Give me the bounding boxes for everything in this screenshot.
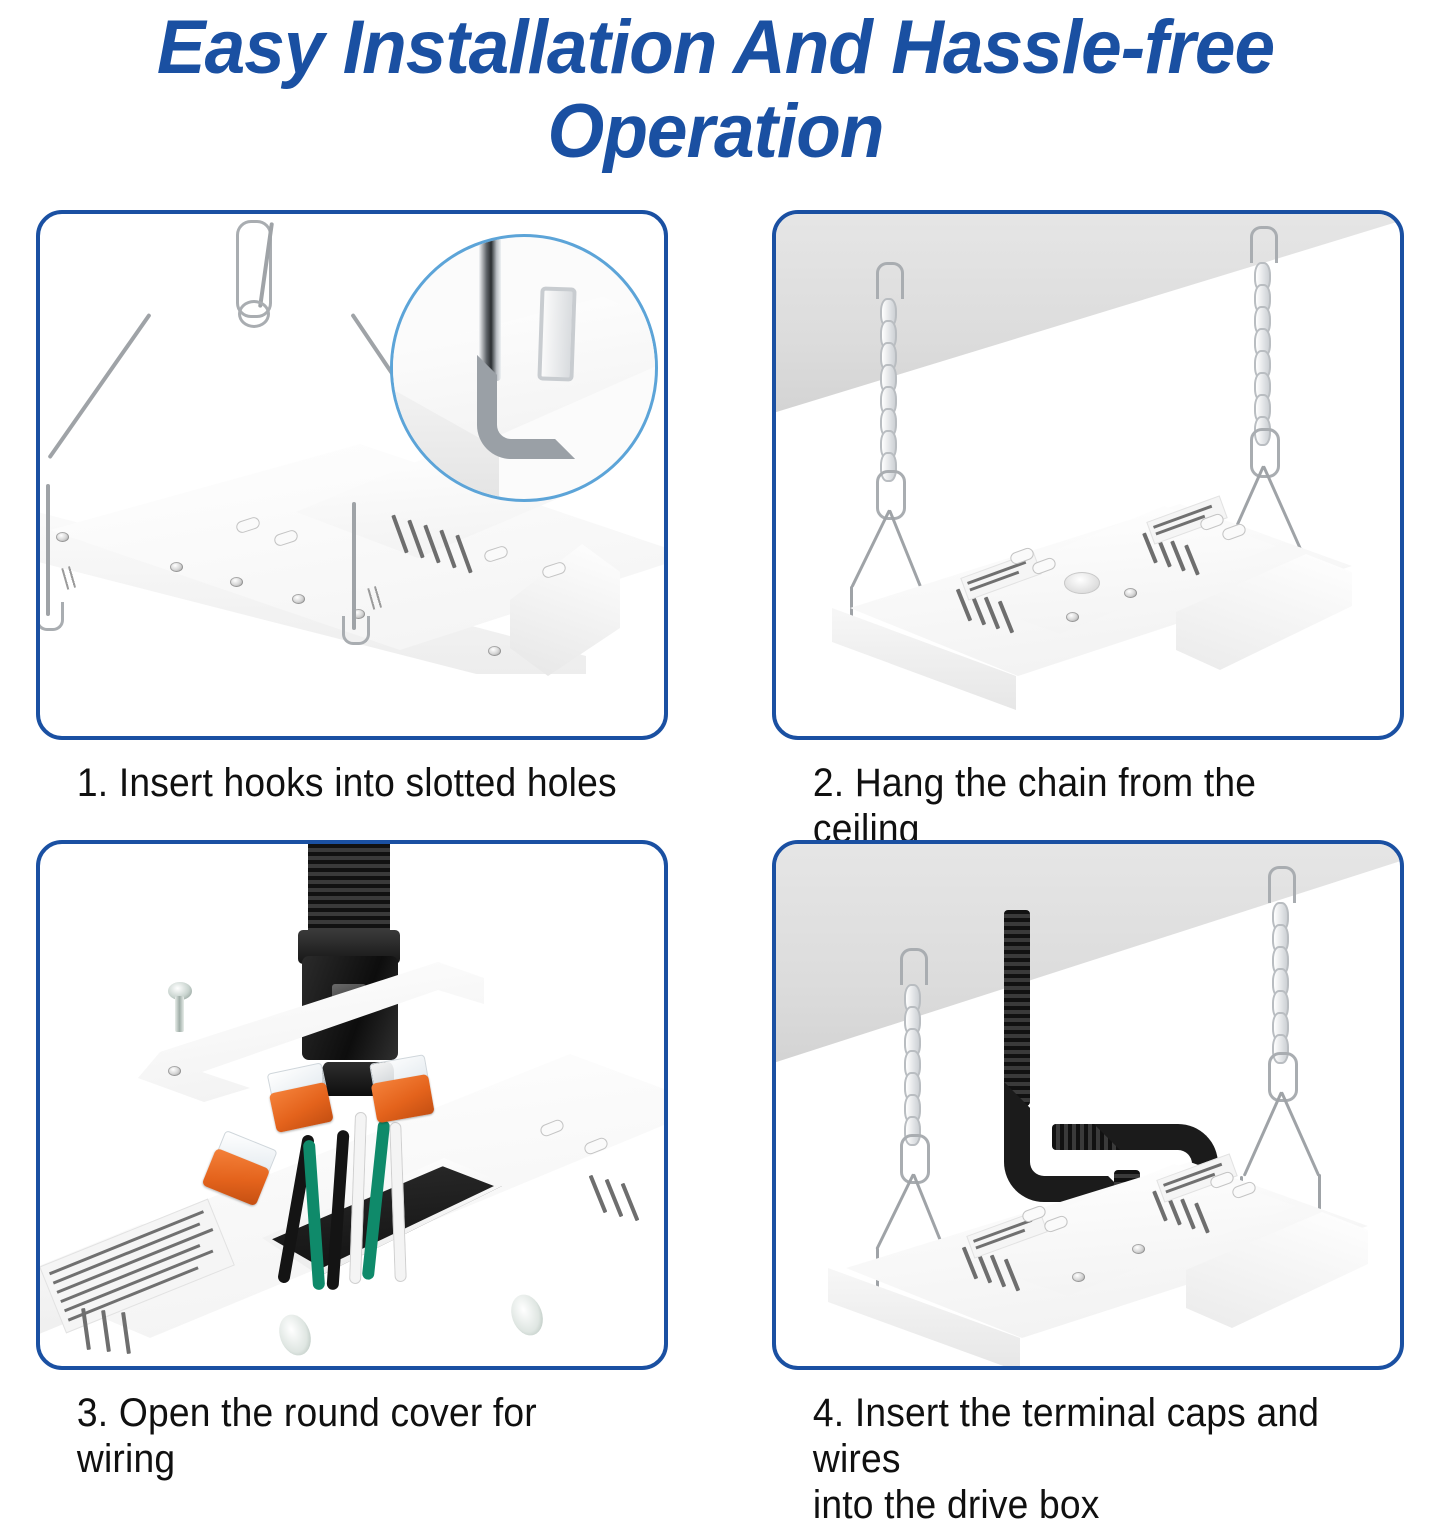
ceiling-plane bbox=[772, 840, 1404, 1078]
infographic-page: Easy Installation And Hassle-free Operat… bbox=[0, 0, 1431, 1500]
step-4-caption: 4. Insert the terminal caps and wires in… bbox=[772, 1390, 1365, 1528]
hanger-arm-left bbox=[1243, 1091, 1283, 1176]
hanger-leg-right bbox=[352, 502, 356, 630]
hanger-leg-left bbox=[46, 484, 50, 616]
step-3: 3. Open the round cover for wiring bbox=[36, 840, 674, 1482]
screw-head bbox=[170, 562, 183, 572]
step-1-image-panel bbox=[36, 210, 668, 740]
vent-slot bbox=[621, 1183, 640, 1222]
step-3-caption: 3. Open the round cover for wiring bbox=[36, 1390, 629, 1482]
magnifier-inset bbox=[390, 234, 658, 502]
screw-head bbox=[1066, 612, 1079, 622]
hanger-hook-tip-right bbox=[342, 616, 370, 645]
step-4: 4. Insert the terminal caps and wires in… bbox=[772, 840, 1410, 1528]
hanger-arm-left bbox=[875, 1173, 915, 1250]
round-cover bbox=[506, 1290, 549, 1340]
scene-open-cover-wiring bbox=[40, 844, 664, 1366]
hanger-arm-right bbox=[1280, 1091, 1320, 1176]
s-hook-left bbox=[876, 262, 904, 299]
screw-head bbox=[56, 532, 69, 542]
s-hook-left bbox=[900, 948, 928, 985]
step-1: 1. Insert hooks into slotted holes bbox=[36, 210, 674, 806]
step-3-image-panel bbox=[36, 840, 668, 1370]
step-2-caption: 2. Hang the chain from the ceiling bbox=[772, 760, 1365, 852]
mounting-screw-shaft bbox=[175, 996, 184, 1032]
s-hook-right bbox=[1268, 866, 1296, 903]
hanger-arm-right bbox=[888, 509, 923, 590]
round-cover bbox=[1064, 572, 1100, 594]
magnified-slotted-hole bbox=[537, 286, 576, 381]
scene-conduit-to-drive-box bbox=[776, 844, 1400, 1366]
screw-head bbox=[230, 577, 243, 587]
step-2: 2. Hang the chain from the ceiling bbox=[772, 210, 1410, 852]
page-title-line-1: Easy Installation And Hassle-free bbox=[29, 6, 1403, 90]
hanger-ring bbox=[238, 300, 270, 328]
screw-head bbox=[1124, 588, 1137, 598]
round-cover bbox=[274, 1310, 317, 1360]
s-hook-right bbox=[1250, 226, 1278, 263]
scene-hook-into-slot bbox=[40, 214, 664, 736]
scene-hang-from-ceiling bbox=[776, 214, 1400, 736]
screw-head bbox=[292, 594, 305, 604]
step-2-image-panel bbox=[772, 210, 1404, 740]
step-4-image-panel bbox=[772, 840, 1404, 1370]
screw-head bbox=[1072, 1272, 1085, 1282]
ceiling-plane bbox=[772, 210, 1404, 428]
page-title-line-2: Operation bbox=[29, 90, 1403, 174]
hanger-arm-left bbox=[47, 313, 151, 459]
hanger-hook-tip-left bbox=[36, 602, 64, 631]
step-1-caption: 1. Insert hooks into slotted holes bbox=[36, 760, 629, 806]
flexible-conduit-vertical-upper bbox=[1004, 910, 1030, 1106]
page-title: Easy Installation And Hassle-free Operat… bbox=[0, 6, 1431, 174]
flexible-conduit bbox=[308, 840, 390, 936]
screw-head bbox=[488, 646, 501, 656]
screw-head bbox=[1132, 1244, 1145, 1254]
hanger-arm-left bbox=[850, 509, 890, 588]
cover-plate-hole bbox=[168, 1066, 181, 1076]
